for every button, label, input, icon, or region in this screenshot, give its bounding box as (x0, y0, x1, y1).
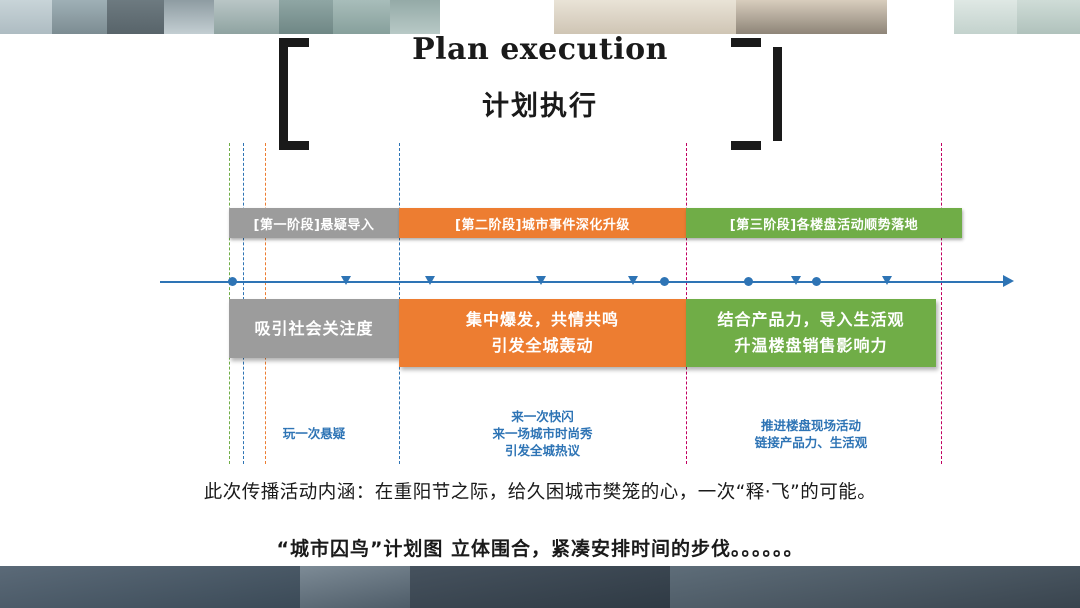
axis-tick (791, 276, 801, 285)
axis-dot (744, 277, 753, 286)
axis-dot (812, 277, 821, 286)
phase-2-note-2: 来一场城市时尚秀 (399, 425, 686, 442)
axis-arrow-icon (1003, 275, 1014, 287)
phase-1-notes: 玩一次悬疑 (229, 425, 399, 442)
phase-2-top-bar[interactable]: [第二阶段]城市事件深化升级 (399, 208, 686, 238)
phase-3-bottom-line-1: 结合产品力，导入生活观 (717, 307, 904, 333)
axis-tick (628, 276, 638, 285)
caption-sub: “城市囚鸟”计划图 立体围合，紧凑安排时间的步伐。。。。。。 (0, 534, 1080, 561)
axis-dot (660, 277, 669, 286)
phase-1-bottom-line-1: 吸引社会关注度 (254, 316, 373, 342)
phase-2-note-1: 来一次快闪 (399, 408, 686, 425)
phase-3-notes: 推进楼盘现场活动 链接产品力、生活观 (686, 417, 936, 451)
phase-1-note-1: 玩一次悬疑 (229, 425, 399, 442)
phase-1-top-label: [第一阶段]悬疑导入 (254, 214, 375, 233)
axis-tick (536, 276, 546, 285)
axis-tick (341, 276, 351, 285)
phase-2-top-label: [第二阶段]城市事件深化升级 (455, 214, 630, 233)
phase-1-top-bar[interactable]: [第一阶段]悬疑导入 (229, 208, 399, 238)
axis-dot (228, 277, 237, 286)
phase-3-note-1: 推进楼盘现场活动 (686, 417, 936, 434)
phase-2-bottom-line-1: 集中爆发，共情共鸣 (466, 307, 619, 333)
phase-3-bottom-line-2: 升温楼盘销售影响力 (734, 333, 887, 359)
phase-3-top-bar[interactable]: [第三阶段]各楼盘活动顺势落地 (686, 208, 962, 238)
phase-1-bottom-box[interactable]: 吸引社会关注度 (229, 299, 399, 358)
phase-3-note-2: 链接产品力、生活观 (686, 434, 936, 451)
phase-3-top-label: [第三阶段]各楼盘活动顺势落地 (730, 214, 918, 233)
axis-tick (425, 276, 435, 285)
phase-2-notes: 来一次快闪 来一场城市时尚秀 引发全城热议 (399, 408, 686, 459)
phase-2-bottom-box[interactable]: 集中爆发，共情共鸣 引发全城轰动 (399, 299, 686, 367)
timeline-axis (160, 281, 1005, 283)
axis-tick (882, 276, 892, 285)
caption-main: 此次传播活动内涵：在重阳节之际，给久困城市樊笼的心，一次“释·飞”的可能。 (0, 478, 1080, 504)
phase-3-bottom-box[interactable]: 结合产品力，导入生活观 升温楼盘销售影响力 (686, 299, 936, 367)
guide-line-6 (941, 143, 942, 464)
phase-2-bottom-line-2: 引发全城轰动 (491, 333, 593, 359)
phase-2-note-3: 引发全城热议 (399, 442, 686, 459)
timeline: [第一阶段]悬疑导入 [第二阶段]城市事件深化升级 [第三阶段]各楼盘活动顺势落… (0, 0, 1080, 608)
slide: Plan execution 计划执行 [第一阶段]悬疑导入 [第二阶段]城市事… (0, 0, 1080, 608)
